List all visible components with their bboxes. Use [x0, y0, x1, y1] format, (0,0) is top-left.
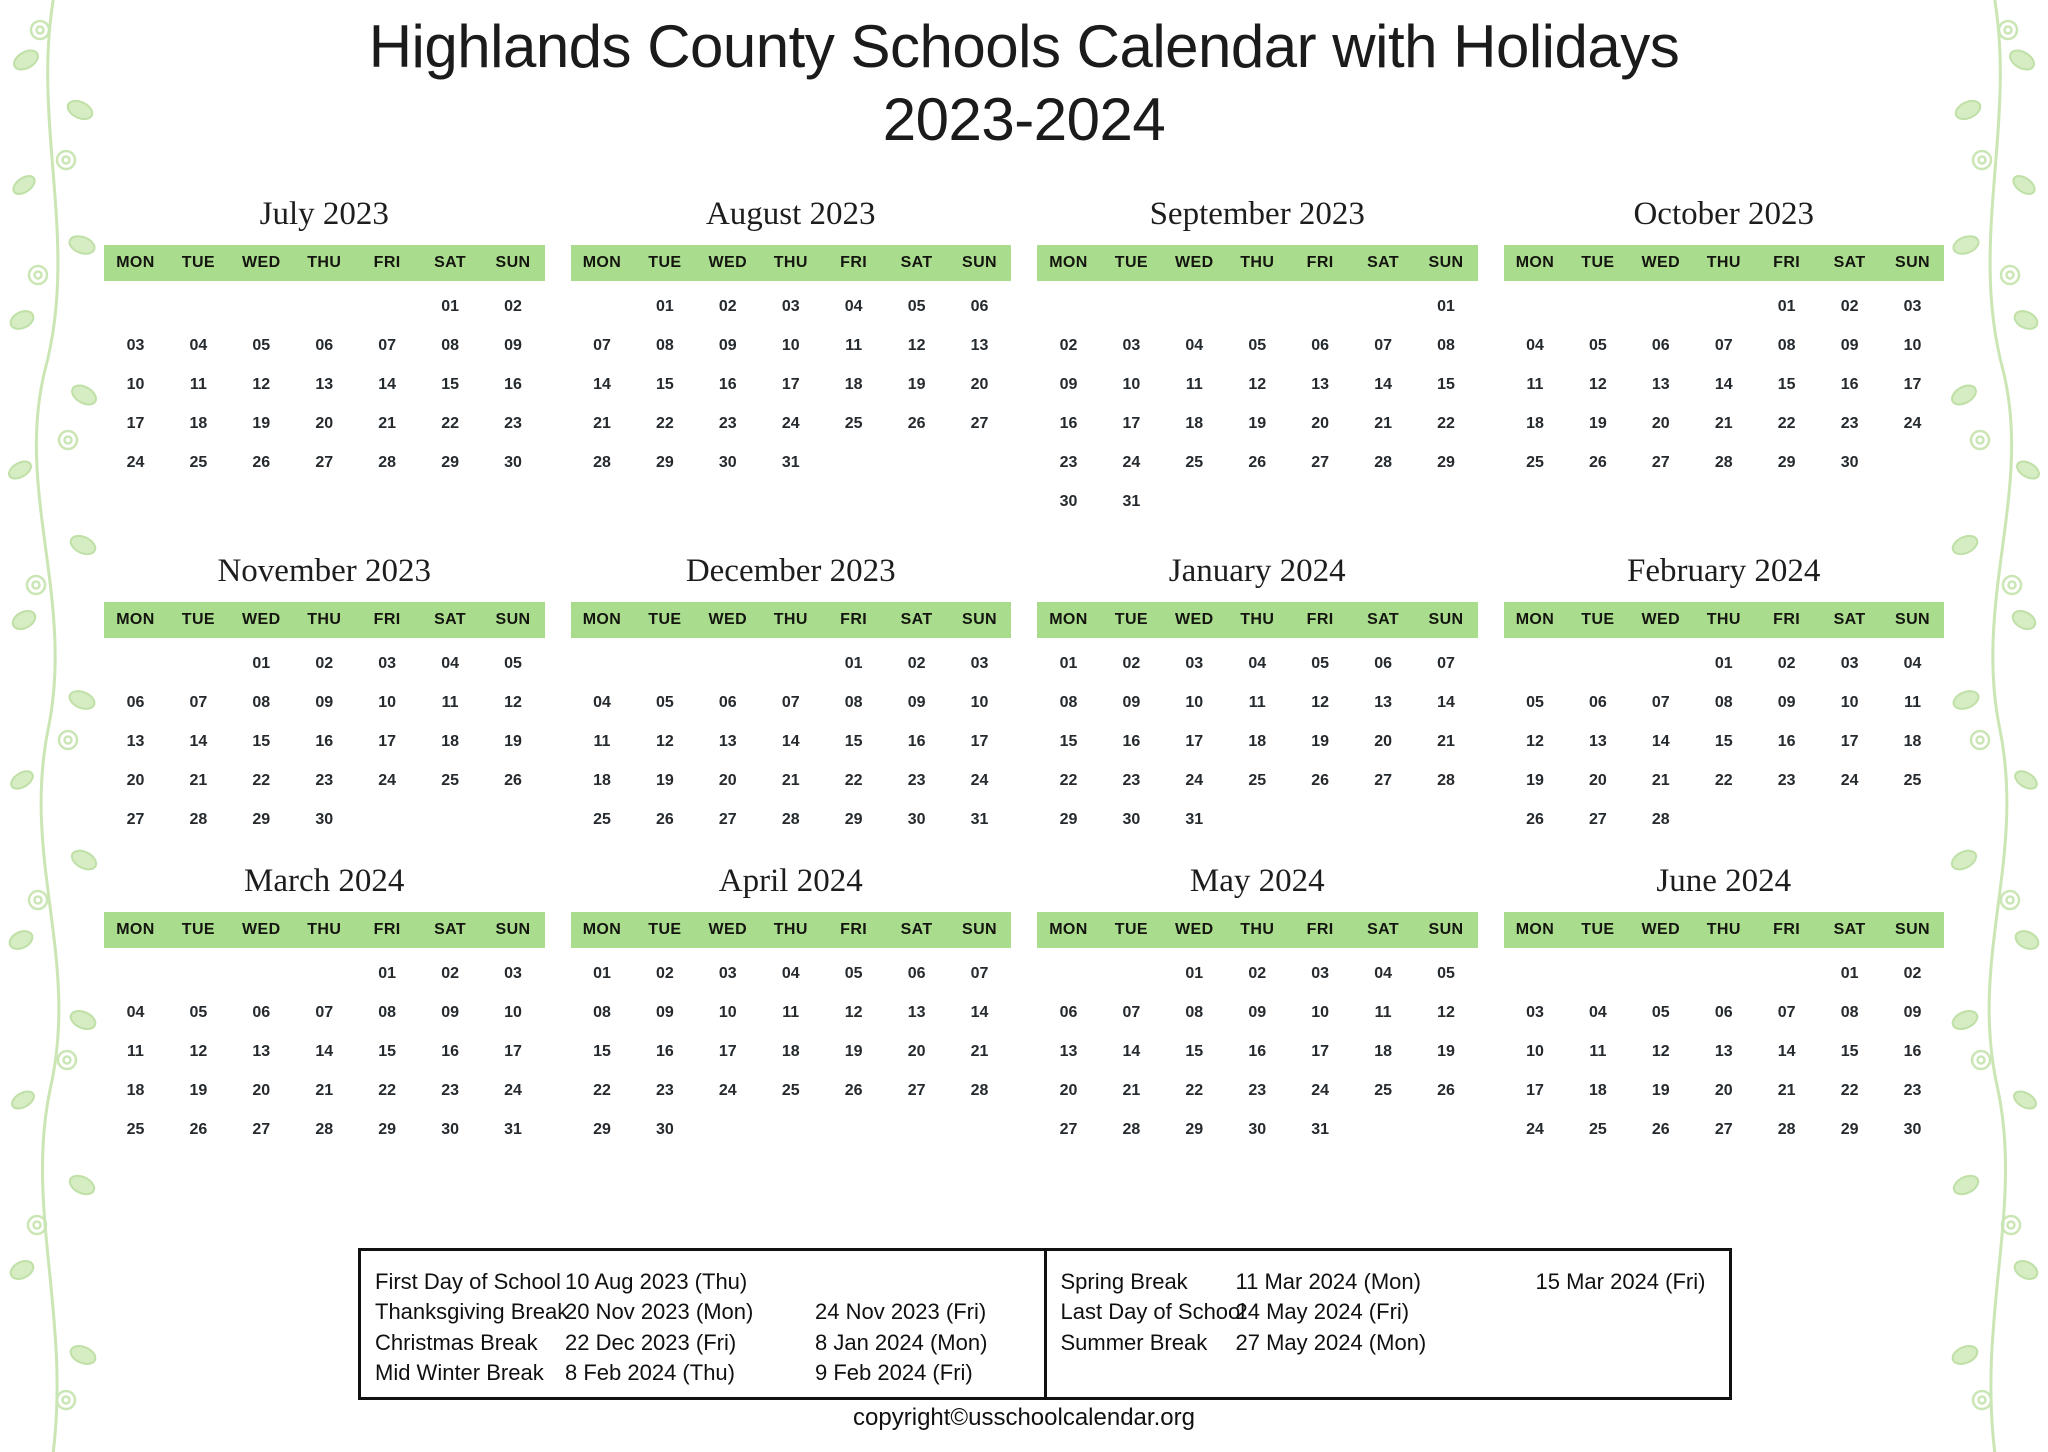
day-cell[interactable]: 02: [1100, 644, 1163, 683]
day-cell[interactable]: 22: [419, 404, 482, 443]
day-cell[interactable]: 26: [822, 1071, 885, 1110]
day-cell[interactable]: 13: [696, 722, 759, 761]
day-cell[interactable]: 14: [1755, 1032, 1818, 1071]
day-cell[interactable]: 31: [1100, 482, 1163, 521]
day-cell[interactable]: 31: [948, 800, 1011, 839]
day-cell[interactable]: 13: [1037, 1032, 1100, 1071]
day-cell[interactable]: 08: [419, 326, 482, 365]
day-cell[interactable]: 01: [822, 644, 885, 683]
day-cell[interactable]: 18: [822, 365, 885, 404]
day-cell[interactable]: 08: [1415, 326, 1478, 365]
day-cell[interactable]: 11: [571, 722, 634, 761]
day-cell[interactable]: 19: [1289, 722, 1352, 761]
day-cell[interactable]: 27: [1629, 443, 1692, 482]
day-cell[interactable]: 17: [1881, 365, 1944, 404]
day-cell[interactable]: 22: [1037, 761, 1100, 800]
day-cell[interactable]: 28: [1755, 1110, 1818, 1149]
day-cell[interactable]: 08: [230, 683, 293, 722]
day-cell[interactable]: 12: [1629, 1032, 1692, 1071]
day-cell[interactable]: 22: [1755, 404, 1818, 443]
day-cell[interactable]: 13: [230, 1032, 293, 1071]
day-cell[interactable]: 11: [1881, 683, 1944, 722]
day-cell[interactable]: 28: [571, 443, 634, 482]
day-cell[interactable]: 11: [1226, 683, 1289, 722]
day-cell[interactable]: 23: [293, 761, 356, 800]
day-cell[interactable]: 18: [1504, 404, 1567, 443]
day-cell[interactable]: 24: [482, 1071, 545, 1110]
day-cell[interactable]: 12: [822, 993, 885, 1032]
day-cell[interactable]: 06: [948, 287, 1011, 326]
day-cell[interactable]: 15: [1415, 365, 1478, 404]
day-cell[interactable]: 15: [1037, 722, 1100, 761]
day-cell[interactable]: 11: [104, 1032, 167, 1071]
day-cell[interactable]: 06: [1692, 993, 1755, 1032]
day-cell[interactable]: 04: [571, 683, 634, 722]
day-cell[interactable]: 27: [1692, 1110, 1755, 1149]
day-cell[interactable]: 22: [356, 1071, 419, 1110]
day-cell[interactable]: 21: [167, 761, 230, 800]
day-cell[interactable]: 06: [1037, 993, 1100, 1032]
day-cell[interactable]: 03: [1163, 644, 1226, 683]
day-cell[interactable]: 10: [1289, 993, 1352, 1032]
day-cell[interactable]: 14: [1692, 365, 1755, 404]
day-cell[interactable]: 10: [696, 993, 759, 1032]
day-cell[interactable]: 09: [696, 326, 759, 365]
day-cell[interactable]: 10: [1504, 1032, 1567, 1071]
day-cell[interactable]: 02: [1037, 326, 1100, 365]
day-cell[interactable]: 10: [948, 683, 1011, 722]
day-cell[interactable]: 12: [1504, 722, 1567, 761]
day-cell[interactable]: 25: [167, 443, 230, 482]
day-cell[interactable]: 09: [293, 683, 356, 722]
day-cell[interactable]: 23: [1037, 443, 1100, 482]
day-cell[interactable]: 12: [1566, 365, 1629, 404]
day-cell[interactable]: 13: [1352, 683, 1415, 722]
day-cell[interactable]: 15: [822, 722, 885, 761]
day-cell[interactable]: 01: [230, 644, 293, 683]
day-cell[interactable]: 29: [1163, 1110, 1226, 1149]
day-cell[interactable]: 02: [293, 644, 356, 683]
day-cell[interactable]: 29: [571, 1110, 634, 1149]
day-cell[interactable]: 29: [356, 1110, 419, 1149]
day-cell[interactable]: 17: [1163, 722, 1226, 761]
day-cell[interactable]: 14: [356, 365, 419, 404]
day-cell[interactable]: 28: [948, 1071, 1011, 1110]
day-cell[interactable]: 20: [230, 1071, 293, 1110]
day-cell[interactable]: 16: [1037, 404, 1100, 443]
day-cell[interactable]: 17: [696, 1032, 759, 1071]
day-cell[interactable]: 16: [633, 1032, 696, 1071]
day-cell[interactable]: 21: [1352, 404, 1415, 443]
day-cell[interactable]: 10: [1163, 683, 1226, 722]
day-cell[interactable]: 11: [1504, 365, 1567, 404]
day-cell[interactable]: 29: [1818, 1110, 1881, 1149]
day-cell[interactable]: 25: [104, 1110, 167, 1149]
day-cell[interactable]: 04: [1566, 993, 1629, 1032]
day-cell[interactable]: 03: [1881, 287, 1944, 326]
day-cell[interactable]: 15: [419, 365, 482, 404]
day-cell[interactable]: 10: [1100, 365, 1163, 404]
day-cell[interactable]: 14: [167, 722, 230, 761]
day-cell[interactable]: 20: [948, 365, 1011, 404]
day-cell[interactable]: 20: [885, 1032, 948, 1071]
day-cell[interactable]: 27: [1352, 761, 1415, 800]
day-cell[interactable]: 10: [759, 326, 822, 365]
day-cell[interactable]: 01: [356, 954, 419, 993]
day-cell[interactable]: 09: [1881, 993, 1944, 1032]
day-cell[interactable]: 05: [822, 954, 885, 993]
day-cell[interactable]: 12: [1415, 993, 1478, 1032]
day-cell[interactable]: 04: [1881, 644, 1944, 683]
day-cell[interactable]: 31: [1289, 1110, 1352, 1149]
day-cell[interactable]: 26: [885, 404, 948, 443]
day-cell[interactable]: 24: [1163, 761, 1226, 800]
day-cell[interactable]: 02: [1881, 954, 1944, 993]
day-cell[interactable]: 03: [1504, 993, 1567, 1032]
day-cell[interactable]: 21: [1100, 1071, 1163, 1110]
day-cell[interactable]: 05: [230, 326, 293, 365]
day-cell[interactable]: 18: [571, 761, 634, 800]
day-cell[interactable]: 28: [1415, 761, 1478, 800]
day-cell[interactable]: 13: [293, 365, 356, 404]
day-cell[interactable]: 30: [1037, 482, 1100, 521]
day-cell[interactable]: 19: [1504, 761, 1567, 800]
day-cell[interactable]: 13: [1692, 1032, 1755, 1071]
day-cell[interactable]: 21: [1692, 404, 1755, 443]
day-cell[interactable]: 05: [1629, 993, 1692, 1032]
day-cell[interactable]: 27: [1037, 1110, 1100, 1149]
day-cell[interactable]: 09: [1037, 365, 1100, 404]
day-cell[interactable]: 20: [1352, 722, 1415, 761]
day-cell[interactable]: 18: [167, 404, 230, 443]
day-cell[interactable]: 15: [356, 1032, 419, 1071]
day-cell[interactable]: 19: [482, 722, 545, 761]
day-cell[interactable]: 26: [167, 1110, 230, 1149]
day-cell[interactable]: 27: [293, 443, 356, 482]
day-cell[interactable]: 04: [822, 287, 885, 326]
day-cell[interactable]: 04: [167, 326, 230, 365]
day-cell[interactable]: 18: [104, 1071, 167, 1110]
day-cell[interactable]: 25: [1352, 1071, 1415, 1110]
day-cell[interactable]: 05: [1226, 326, 1289, 365]
day-cell[interactable]: 28: [293, 1110, 356, 1149]
day-cell[interactable]: 01: [1755, 287, 1818, 326]
day-cell[interactable]: 30: [696, 443, 759, 482]
day-cell[interactable]: 12: [633, 722, 696, 761]
day-cell[interactable]: 12: [482, 683, 545, 722]
day-cell[interactable]: 05: [482, 644, 545, 683]
day-cell[interactable]: 15: [1163, 1032, 1226, 1071]
day-cell[interactable]: 29: [419, 443, 482, 482]
day-cell[interactable]: 20: [104, 761, 167, 800]
day-cell[interactable]: 12: [167, 1032, 230, 1071]
day-cell[interactable]: 06: [696, 683, 759, 722]
day-cell[interactable]: 09: [1818, 326, 1881, 365]
day-cell[interactable]: 07: [759, 683, 822, 722]
day-cell[interactable]: 02: [1818, 287, 1881, 326]
day-cell[interactable]: 01: [1692, 644, 1755, 683]
day-cell[interactable]: 21: [1415, 722, 1478, 761]
day-cell[interactable]: 23: [419, 1071, 482, 1110]
day-cell[interactable]: 30: [1226, 1110, 1289, 1149]
day-cell[interactable]: 21: [1755, 1071, 1818, 1110]
day-cell[interactable]: 10: [1818, 683, 1881, 722]
day-cell[interactable]: 02: [633, 954, 696, 993]
day-cell[interactable]: 31: [482, 1110, 545, 1149]
day-cell[interactable]: 16: [1818, 365, 1881, 404]
day-cell[interactable]: 16: [419, 1032, 482, 1071]
day-cell[interactable]: 13: [1566, 722, 1629, 761]
day-cell[interactable]: 28: [1629, 800, 1692, 839]
day-cell[interactable]: 08: [571, 993, 634, 1032]
day-cell[interactable]: 26: [1504, 800, 1567, 839]
day-cell[interactable]: 02: [696, 287, 759, 326]
day-cell[interactable]: 03: [104, 326, 167, 365]
day-cell[interactable]: 30: [885, 800, 948, 839]
day-cell[interactable]: 14: [571, 365, 634, 404]
day-cell[interactable]: 18: [1163, 404, 1226, 443]
day-cell[interactable]: 31: [759, 443, 822, 482]
day-cell[interactable]: 10: [482, 993, 545, 1032]
day-cell[interactable]: 25: [419, 761, 482, 800]
day-cell[interactable]: 02: [1226, 954, 1289, 993]
day-cell[interactable]: 01: [1163, 954, 1226, 993]
day-cell[interactable]: 27: [1289, 443, 1352, 482]
day-cell[interactable]: 20: [1629, 404, 1692, 443]
day-cell[interactable]: 13: [885, 993, 948, 1032]
day-cell[interactable]: 06: [1289, 326, 1352, 365]
day-cell[interactable]: 16: [696, 365, 759, 404]
day-cell[interactable]: 04: [1352, 954, 1415, 993]
day-cell[interactable]: 30: [1100, 800, 1163, 839]
day-cell[interactable]: 15: [230, 722, 293, 761]
day-cell[interactable]: 03: [1289, 954, 1352, 993]
day-cell[interactable]: 05: [633, 683, 696, 722]
day-cell[interactable]: 23: [1755, 761, 1818, 800]
day-cell[interactable]: 23: [1226, 1071, 1289, 1110]
day-cell[interactable]: 17: [1100, 404, 1163, 443]
day-cell[interactable]: 09: [1755, 683, 1818, 722]
day-cell[interactable]: 23: [633, 1071, 696, 1110]
day-cell[interactable]: 07: [571, 326, 634, 365]
day-cell[interactable]: 17: [482, 1032, 545, 1071]
day-cell[interactable]: 07: [1629, 683, 1692, 722]
day-cell[interactable]: 18: [1352, 1032, 1415, 1071]
day-cell[interactable]: 01: [1415, 287, 1478, 326]
day-cell[interactable]: 16: [482, 365, 545, 404]
day-cell[interactable]: 22: [230, 761, 293, 800]
day-cell[interactable]: 08: [822, 683, 885, 722]
day-cell[interactable]: 24: [948, 761, 1011, 800]
day-cell[interactable]: 22: [633, 404, 696, 443]
day-cell[interactable]: 02: [885, 644, 948, 683]
day-cell[interactable]: 29: [1037, 800, 1100, 839]
day-cell[interactable]: 26: [1415, 1071, 1478, 1110]
day-cell[interactable]: 23: [482, 404, 545, 443]
day-cell[interactable]: 13: [104, 722, 167, 761]
day-cell[interactable]: 14: [1415, 683, 1478, 722]
day-cell[interactable]: 14: [1100, 1032, 1163, 1071]
day-cell[interactable]: 19: [1415, 1032, 1478, 1071]
day-cell[interactable]: 08: [1692, 683, 1755, 722]
day-cell[interactable]: 30: [293, 800, 356, 839]
day-cell[interactable]: 03: [948, 644, 1011, 683]
day-cell[interactable]: 11: [167, 365, 230, 404]
day-cell[interactable]: 04: [104, 993, 167, 1032]
day-cell[interactable]: 19: [167, 1071, 230, 1110]
day-cell[interactable]: 29: [230, 800, 293, 839]
day-cell[interactable]: 01: [1818, 954, 1881, 993]
day-cell[interactable]: 18: [759, 1032, 822, 1071]
day-cell[interactable]: 21: [293, 1071, 356, 1110]
day-cell[interactable]: 31: [1163, 800, 1226, 839]
day-cell[interactable]: 29: [822, 800, 885, 839]
day-cell[interactable]: 19: [1566, 404, 1629, 443]
day-cell[interactable]: 08: [633, 326, 696, 365]
day-cell[interactable]: 28: [167, 800, 230, 839]
day-cell[interactable]: 07: [167, 683, 230, 722]
day-cell[interactable]: 27: [1566, 800, 1629, 839]
day-cell[interactable]: 15: [571, 1032, 634, 1071]
day-cell[interactable]: 05: [1289, 644, 1352, 683]
day-cell[interactable]: 13: [948, 326, 1011, 365]
day-cell[interactable]: 20: [1692, 1071, 1755, 1110]
day-cell[interactable]: 27: [885, 1071, 948, 1110]
day-cell[interactable]: 16: [1226, 1032, 1289, 1071]
day-cell[interactable]: 08: [1755, 326, 1818, 365]
day-cell[interactable]: 01: [633, 287, 696, 326]
day-cell[interactable]: 19: [885, 365, 948, 404]
day-cell[interactable]: 19: [822, 1032, 885, 1071]
day-cell[interactable]: 05: [167, 993, 230, 1032]
day-cell[interactable]: 18: [1881, 722, 1944, 761]
day-cell[interactable]: 24: [1818, 761, 1881, 800]
day-cell[interactable]: 22: [1163, 1071, 1226, 1110]
day-cell[interactable]: 04: [1226, 644, 1289, 683]
day-cell[interactable]: 20: [696, 761, 759, 800]
day-cell[interactable]: 18: [1226, 722, 1289, 761]
day-cell[interactable]: 10: [356, 683, 419, 722]
day-cell[interactable]: 07: [356, 326, 419, 365]
day-cell[interactable]: 04: [1163, 326, 1226, 365]
day-cell[interactable]: 05: [885, 287, 948, 326]
day-cell[interactable]: 06: [293, 326, 356, 365]
day-cell[interactable]: 28: [1692, 443, 1755, 482]
day-cell[interactable]: 17: [1289, 1032, 1352, 1071]
day-cell[interactable]: 07: [1755, 993, 1818, 1032]
day-cell[interactable]: 02: [1755, 644, 1818, 683]
day-cell[interactable]: 06: [104, 683, 167, 722]
day-cell[interactable]: 28: [356, 443, 419, 482]
day-cell[interactable]: 06: [230, 993, 293, 1032]
day-cell[interactable]: 10: [104, 365, 167, 404]
day-cell[interactable]: 15: [1692, 722, 1755, 761]
day-cell[interactable]: 13: [1629, 365, 1692, 404]
day-cell[interactable]: 17: [759, 365, 822, 404]
day-cell[interactable]: 08: [356, 993, 419, 1032]
day-cell[interactable]: 14: [759, 722, 822, 761]
day-cell[interactable]: 28: [1100, 1110, 1163, 1149]
day-cell[interactable]: 07: [948, 954, 1011, 993]
day-cell[interactable]: 15: [1755, 365, 1818, 404]
day-cell[interactable]: 09: [419, 993, 482, 1032]
day-cell[interactable]: 12: [230, 365, 293, 404]
day-cell[interactable]: 01: [571, 954, 634, 993]
day-cell[interactable]: 22: [571, 1071, 634, 1110]
day-cell[interactable]: 03: [759, 287, 822, 326]
day-cell[interactable]: 25: [1504, 443, 1567, 482]
day-cell[interactable]: 23: [885, 761, 948, 800]
day-cell[interactable]: 14: [1629, 722, 1692, 761]
day-cell[interactable]: 11: [1566, 1032, 1629, 1071]
day-cell[interactable]: 17: [948, 722, 1011, 761]
day-cell[interactable]: 14: [1352, 365, 1415, 404]
day-cell[interactable]: 22: [1415, 404, 1478, 443]
day-cell[interactable]: 05: [1566, 326, 1629, 365]
day-cell[interactable]: 08: [1037, 683, 1100, 722]
day-cell[interactable]: 25: [1226, 761, 1289, 800]
day-cell[interactable]: 01: [1037, 644, 1100, 683]
day-cell[interactable]: 26: [633, 800, 696, 839]
day-cell[interactable]: 07: [1692, 326, 1755, 365]
day-cell[interactable]: 04: [419, 644, 482, 683]
day-cell[interactable]: 15: [1818, 1032, 1881, 1071]
day-cell[interactable]: 26: [1289, 761, 1352, 800]
day-cell[interactable]: 21: [948, 1032, 1011, 1071]
day-cell[interactable]: 21: [759, 761, 822, 800]
day-cell[interactable]: 28: [1352, 443, 1415, 482]
day-cell[interactable]: 17: [356, 722, 419, 761]
day-cell[interactable]: 16: [1755, 722, 1818, 761]
day-cell[interactable]: 16: [1100, 722, 1163, 761]
day-cell[interactable]: 26: [230, 443, 293, 482]
day-cell[interactable]: 20: [293, 404, 356, 443]
day-cell[interactable]: 22: [1818, 1071, 1881, 1110]
day-cell[interactable]: 25: [1566, 1110, 1629, 1149]
day-cell[interactable]: 09: [482, 326, 545, 365]
day-cell[interactable]: 27: [696, 800, 759, 839]
day-cell[interactable]: 04: [759, 954, 822, 993]
day-cell[interactable]: 11: [1352, 993, 1415, 1032]
day-cell[interactable]: 25: [571, 800, 634, 839]
day-cell[interactable]: 02: [482, 287, 545, 326]
day-cell[interactable]: 09: [1100, 683, 1163, 722]
day-cell[interactable]: 11: [419, 683, 482, 722]
day-cell[interactable]: 16: [1881, 1032, 1944, 1071]
day-cell[interactable]: 21: [1629, 761, 1692, 800]
day-cell[interactable]: 11: [822, 326, 885, 365]
day-cell[interactable]: 12: [1226, 365, 1289, 404]
day-cell[interactable]: 05: [1504, 683, 1567, 722]
day-cell[interactable]: 19: [633, 761, 696, 800]
day-cell[interactable]: 24: [1504, 1110, 1567, 1149]
day-cell[interactable]: 19: [1629, 1071, 1692, 1110]
day-cell[interactable]: 08: [1818, 993, 1881, 1032]
day-cell[interactable]: 05: [1415, 954, 1478, 993]
day-cell[interactable]: 14: [293, 1032, 356, 1071]
day-cell[interactable]: 30: [633, 1110, 696, 1149]
day-cell[interactable]: 06: [885, 954, 948, 993]
day-cell[interactable]: 06: [1352, 644, 1415, 683]
day-cell[interactable]: 09: [633, 993, 696, 1032]
day-cell[interactable]: 16: [293, 722, 356, 761]
day-cell[interactable]: 20: [1037, 1071, 1100, 1110]
day-cell[interactable]: 19: [1226, 404, 1289, 443]
day-cell[interactable]: 03: [356, 644, 419, 683]
day-cell[interactable]: 21: [356, 404, 419, 443]
day-cell[interactable]: 07: [1100, 993, 1163, 1032]
day-cell[interactable]: 23: [1818, 404, 1881, 443]
